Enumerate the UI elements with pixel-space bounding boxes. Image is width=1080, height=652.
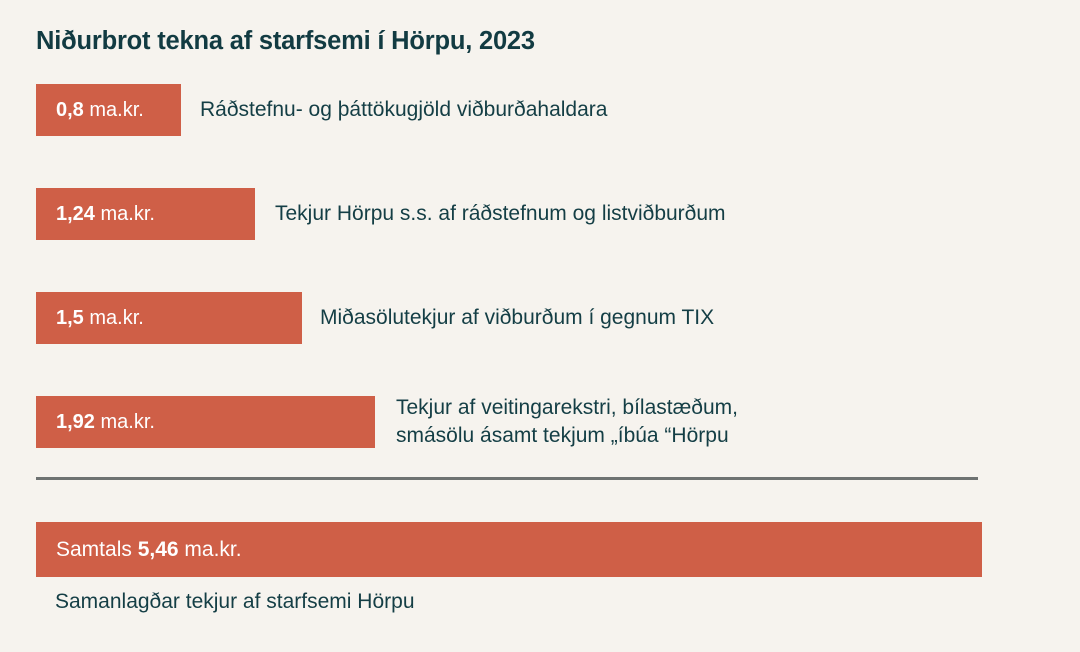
value-bar: 0,8 ma.kr. <box>36 84 181 136</box>
table-row: 1,24 ma.kr. Tekjur Hörpu s.s. af ráðstef… <box>0 188 1080 292</box>
category-rows: 0,8 ma.kr. Ráðstefnu- og þáttökugjöld vi… <box>0 84 1080 500</box>
bar-value-label: 1,5 ma.kr. <box>56 308 144 328</box>
total-prefix: Samtals <box>56 538 132 561</box>
bar-value-unit: ma.kr. <box>101 411 155 433</box>
total-caption: Samanlagðar tekjur af starfsemi Hörpu <box>55 590 415 614</box>
table-row: 1,92 ma.kr. Tekjur af veitingarekstri, b… <box>0 396 1080 500</box>
total-unit: ma.kr. <box>184 538 241 561</box>
chart-title: Niðurbrot tekna af starfsemi í Hörpu, 20… <box>36 27 535 56</box>
bar-value-label: 0,8 ma.kr. <box>56 100 144 120</box>
total-bar-label: Samtals 5,46 ma.kr. <box>56 539 242 560</box>
value-bar: 1,5 ma.kr. <box>36 292 302 344</box>
table-row: 0,8 ma.kr. Ráðstefnu- og þáttökugjöld vi… <box>0 84 1080 188</box>
total-value: 5,46 <box>138 538 179 561</box>
category-label-line1: Miðasölutekjur af viðburðum í gegnum TIX <box>320 304 714 332</box>
value-bar: 1,92 ma.kr. <box>36 396 375 448</box>
bar-value-unit: ma.kr. <box>89 99 143 121</box>
bar-value-label: 1,24 ma.kr. <box>56 204 155 224</box>
section-divider <box>36 477 978 480</box>
bar-value-number: 1,5 <box>56 307 84 329</box>
revenue-breakdown-infographic: Niðurbrot tekna af starfsemi í Hörpu, 20… <box>0 0 1080 652</box>
category-label-line2: smásölu ásamt tekjum „íbúa “Hörpu <box>396 422 738 450</box>
bar-value-number: 1,92 <box>56 411 95 433</box>
bar-value-number: 0,8 <box>56 99 84 121</box>
total-bar: Samtals 5,46 ma.kr. <box>36 522 982 577</box>
value-bar: 1,24 ma.kr. <box>36 188 255 240</box>
category-label-line1: Tekjur af veitingarekstri, bílastæðum, <box>396 394 738 422</box>
bar-value-label: 1,92 ma.kr. <box>56 412 155 432</box>
category-label-line1: Tekjur Hörpu s.s. af ráðstefnum og listv… <box>275 200 726 228</box>
table-row: 1,5 ma.kr. Miðasölutekjur af viðburðum í… <box>0 292 1080 396</box>
category-label-line1: Ráðstefnu- og þáttökugjöld viðburðahalda… <box>200 96 607 124</box>
bar-value-unit: ma.kr. <box>89 307 143 329</box>
bar-value-number: 1,24 <box>56 203 95 225</box>
category-label: Miðasölutekjur af viðburðum í gegnum TIX <box>320 292 714 344</box>
category-label: Tekjur af veitingarekstri, bílastæðum, s… <box>396 396 738 448</box>
bar-value-unit: ma.kr. <box>101 203 155 225</box>
category-label: Ráðstefnu- og þáttökugjöld viðburðahalda… <box>200 84 607 136</box>
category-label: Tekjur Hörpu s.s. af ráðstefnum og listv… <box>275 188 726 240</box>
